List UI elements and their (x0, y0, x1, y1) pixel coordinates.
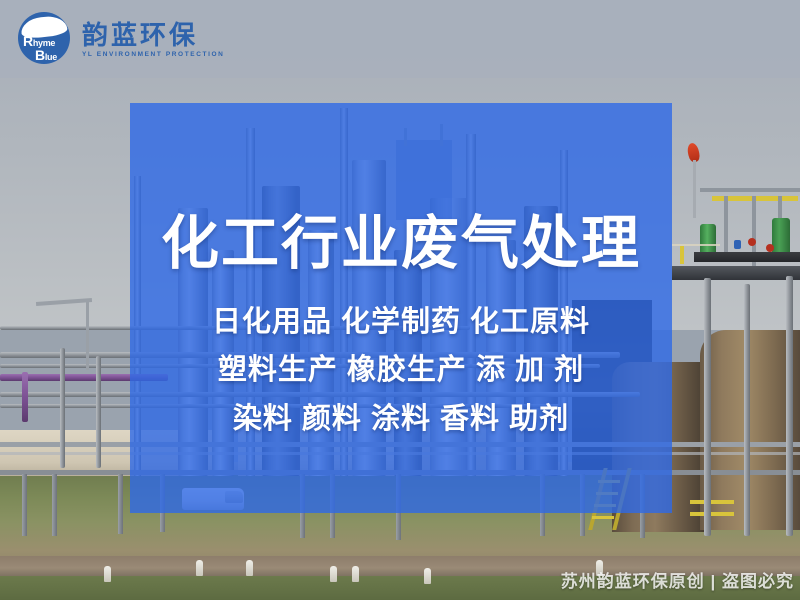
handrail (672, 244, 720, 246)
bollard (196, 560, 203, 576)
equipment-platform (672, 266, 800, 280)
light-pole (86, 300, 89, 370)
vertical-pipe (60, 348, 65, 468)
bollard (352, 566, 359, 582)
yellow-beam (690, 500, 734, 504)
banner-subline-3: 染料 颜料 涂料 香料 助剂 (130, 405, 672, 434)
support-leg (118, 474, 123, 534)
banner-subline-1: 日化用品 化学制药 化工原料 (130, 308, 672, 337)
support-leg (52, 474, 57, 536)
copyright-watermark: 苏州韵蓝环保原创 | 盗图必究 (561, 567, 794, 592)
banner-image: 化工行业废气处理 日化用品 化学制药 化工原料 塑料生产 橡胶生产 添 加 剂 … (0, 0, 800, 600)
blue-valve (734, 240, 741, 249)
equipment-platform (694, 252, 800, 262)
logo-rhyme-initial: R (23, 33, 33, 49)
brand-logo[interactable]: Rhyme Blue 韵蓝环保 YL ENVIRONMENT PROTECTIO… (18, 12, 224, 64)
yellow-beam (690, 512, 734, 516)
flare-stack (693, 160, 696, 218)
logo-word-blue: Blue (35, 48, 57, 62)
banner-subline-2: 塑料生产 橡胶生产 添 加 剂 (130, 356, 672, 385)
bollard (424, 568, 431, 584)
vertical-pipe (96, 356, 101, 468)
red-valve (766, 244, 774, 252)
bollard (104, 566, 111, 582)
logo-blue-rest: lue (45, 52, 57, 62)
bollard (246, 560, 253, 576)
vertical-pipe (786, 276, 793, 536)
company-name-cn: 韵蓝环保 (82, 22, 224, 49)
yellow-post (680, 246, 684, 264)
brand-name-block: 韵蓝环保 YL ENVIRONMENT PROTECTION (82, 18, 224, 58)
stair-tread (592, 516, 614, 519)
header-bar: Rhyme Blue 韵蓝环保 YL ENVIRONMENT PROTECTIO… (0, 0, 800, 78)
logo-blue-initial: B (35, 47, 45, 63)
vertical-pipe (744, 284, 750, 536)
vertical-pipe-purple (22, 372, 28, 422)
bollard (330, 566, 337, 582)
vertical-pipe (704, 278, 711, 536)
green-vessel (700, 224, 716, 254)
rhyme-blue-circle-icon: Rhyme Blue (18, 12, 70, 64)
company-name-en: YL ENVIRONMENT PROTECTION (82, 51, 224, 58)
banner-headline: 化工行业废气处理 (130, 215, 672, 273)
steel-beam (700, 188, 800, 192)
red-valve (748, 238, 756, 246)
green-vessel (772, 218, 790, 254)
banner-text-block: 化工行业废气处理 日化用品 化学制药 化工原料 塑料生产 橡胶生产 添 加 剂 … (130, 103, 672, 513)
logo-word-rhyme: Rhyme (23, 34, 55, 48)
support-leg (22, 474, 27, 536)
